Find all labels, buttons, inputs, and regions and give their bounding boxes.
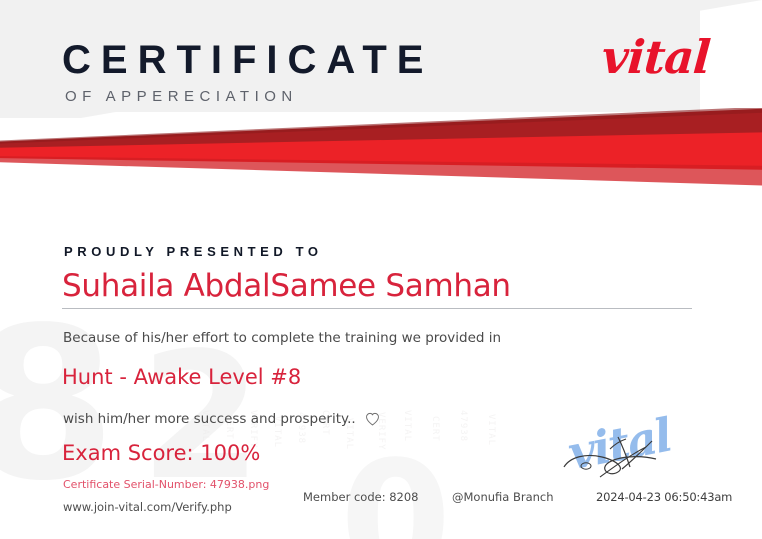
vital-logo: vital (601, 34, 712, 80)
header-lower-fill (0, 118, 762, 160)
stamp-vital-text: vital (565, 412, 675, 477)
issued-timestamp: 2024-04-23 06:50:43am (596, 490, 732, 504)
certificate-document: CERTIFICATE OF APPERECIATION vital 8 2 0… (0, 0, 762, 539)
page-title: CERTIFICATE (62, 40, 433, 80)
name-underline-rule (62, 308, 692, 309)
recipient-name: Suhaila AbdalSamee Samhan (62, 268, 511, 304)
wish-text: wish him/her more success and prosperity… (63, 411, 356, 427)
verify-url[interactable]: www.join-vital.com/Verify.php (63, 500, 232, 514)
certificate-body: 8 2 0 VITAL CERT VERIFY VITAL 47938 CERT… (0, 160, 762, 539)
branch-name: @Monufia Branch (452, 490, 554, 504)
course-name: Hunt - Awake Level #8 (62, 365, 301, 389)
signature-icon (556, 419, 721, 499)
member-code: Member code: 8208 (303, 490, 419, 504)
exam-score: Exam Score: 100% (62, 441, 260, 465)
wish-text-row: wish him/her more success and prosperity… (63, 411, 380, 427)
heart-outline-icon (365, 412, 380, 426)
certificate-title-block: CERTIFICATE OF APPERECIATION (62, 40, 433, 104)
reason-text: Because of his/her effort to complete th… (63, 330, 501, 346)
page-subtitle: OF APPERECIATION (65, 89, 433, 104)
certificate-serial-number: Certificate Serial-Number: 47938.png (63, 478, 269, 491)
approval-stamp: vital (556, 415, 721, 495)
presented-to-label: PROUDLY PRESENTED TO (64, 244, 323, 259)
